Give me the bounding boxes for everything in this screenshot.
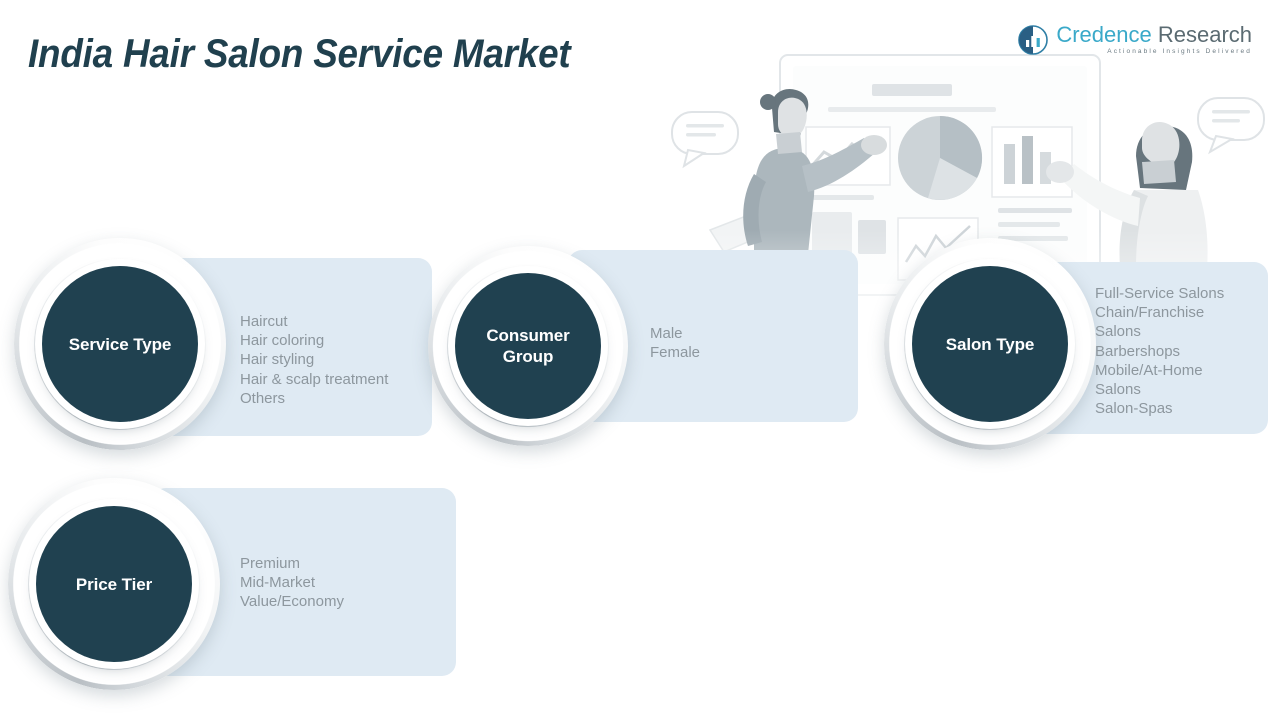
logo-name-part2: Research bbox=[1158, 22, 1252, 47]
service-type-items: Haircut Hair coloring Hair styling Hair … bbox=[240, 312, 440, 408]
service-type-disc[interactable]: Service Type bbox=[42, 266, 198, 422]
speech-bubble-left bbox=[672, 112, 738, 166]
consumer-group-disc[interactable]: Consumer Group bbox=[455, 273, 601, 419]
page-title: India Hair Salon Service Market bbox=[28, 34, 570, 74]
price-tier-disc[interactable]: Price Tier bbox=[36, 506, 192, 662]
credence-research-logo: Credence Research Actionable Insights De… bbox=[1018, 24, 1252, 56]
salon-type-label: Salon Type bbox=[936, 334, 1044, 355]
speech-bubble-right bbox=[1198, 98, 1264, 152]
logo-tagline: Actionable Insights Delivered bbox=[1056, 47, 1252, 56]
consumer-group-items: Male Female bbox=[650, 324, 850, 362]
price-tier-items: Premium Mid-Market Value/Economy bbox=[240, 554, 460, 612]
bar-chart-circle-icon bbox=[1018, 25, 1048, 55]
salon-type-disc[interactable]: Salon Type bbox=[912, 266, 1068, 422]
service-type-label: Service Type bbox=[59, 334, 181, 355]
salon-type-items: Full-Service Salons Chain/Franchise Salo… bbox=[1095, 284, 1245, 418]
price-tier-label: Price Tier bbox=[66, 574, 162, 595]
logo-name-part1: Credence bbox=[1056, 22, 1151, 47]
consumer-group-label: Consumer Group bbox=[455, 325, 601, 367]
infographic-canvas: India Hair Salon Service Market Credence… bbox=[0, 0, 1280, 720]
